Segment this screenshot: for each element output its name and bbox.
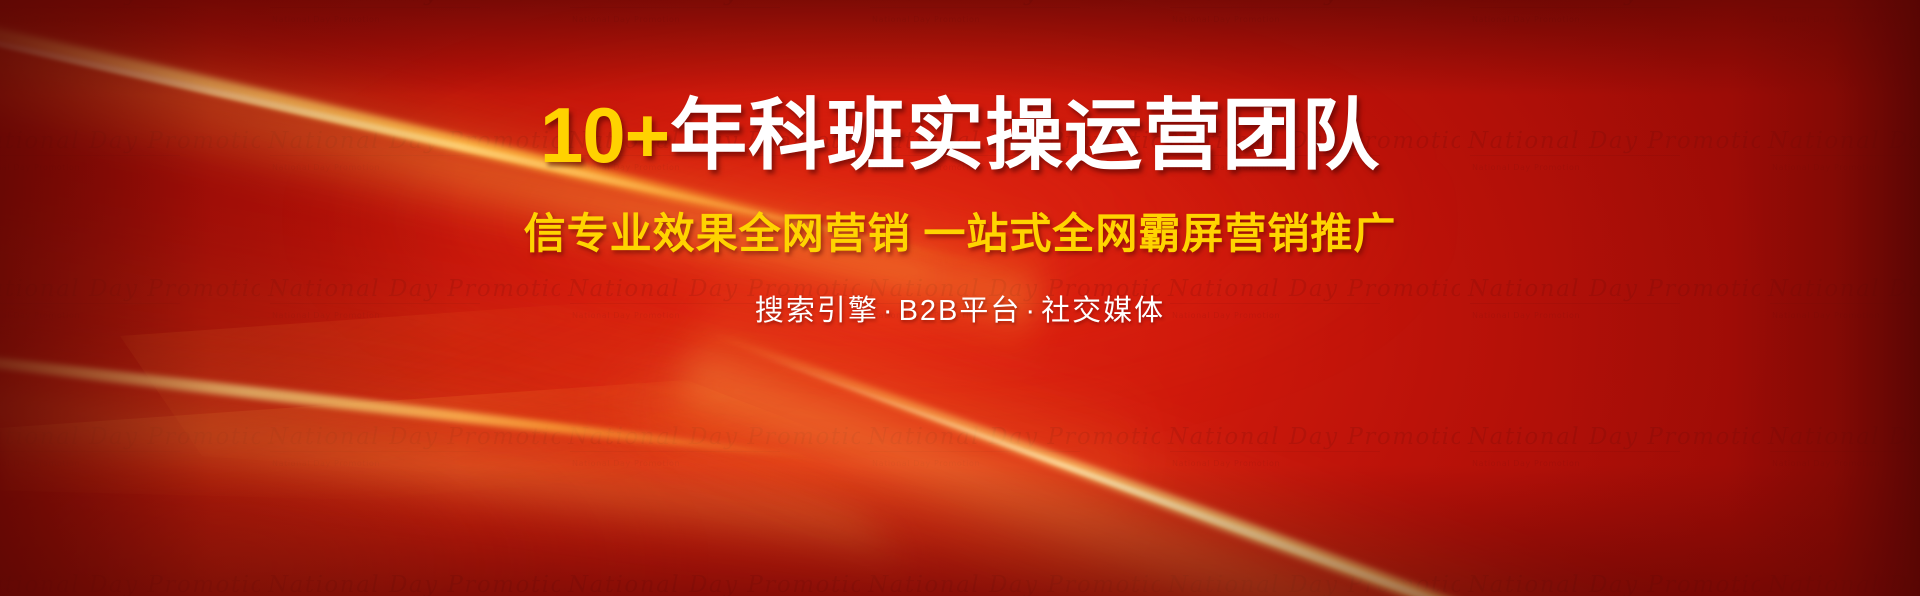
tagline-separator-1: ·: [879, 295, 899, 327]
tagline-item-social-media: 社交媒体: [1041, 295, 1165, 327]
headline-text: 年科班实操运营团队: [669, 91, 1380, 179]
banner-content: 10+年科班实操运营团队 信专业效果全网营销 一站式全网霸屏营销推广 搜索引擎·…: [0, 0, 1920, 596]
promotional-banner: 10+年科班实操运营团队 信专业效果全网营销 一站式全网霸屏营销推广 搜索引擎·…: [0, 0, 1920, 596]
tagline-separator-2: ·: [1021, 295, 1041, 327]
tagline: 搜索引擎·B2B平台·社交媒体: [755, 287, 1165, 329]
subtitle: 信专业效果全网营销 一站式全网霸屏营销推广: [524, 200, 1397, 261]
headline: 10+年科班实操运营团队: [540, 96, 1380, 174]
headline-number: 10+: [540, 91, 669, 179]
tagline-item-search-engine: 搜索引擎: [755, 295, 879, 327]
tagline-item-b2b-platform: B2B平台: [899, 295, 1022, 327]
